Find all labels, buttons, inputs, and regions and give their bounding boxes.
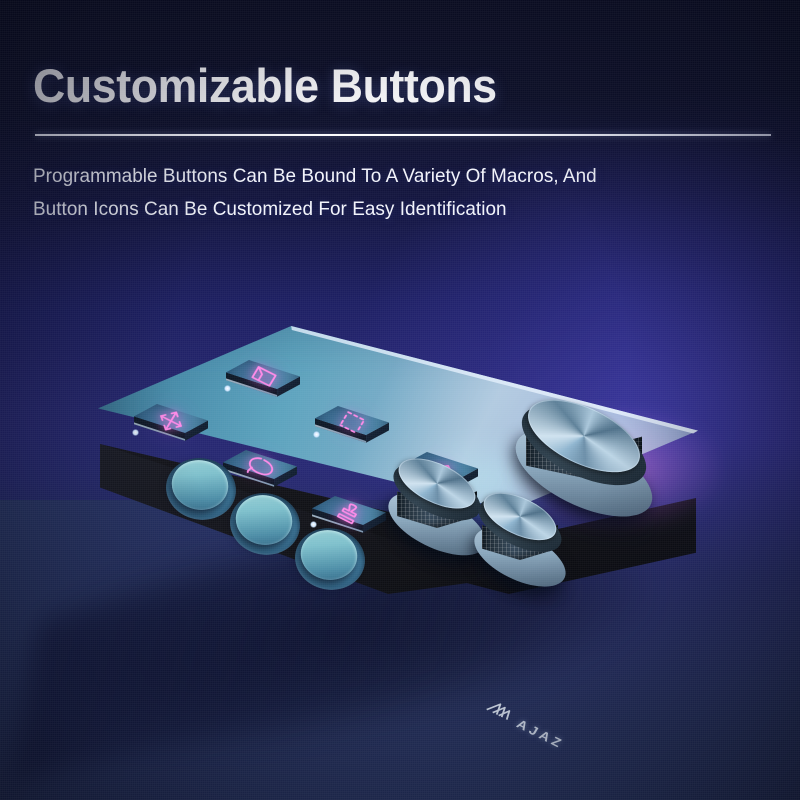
noise-overlay [0, 0, 800, 800]
product-marketing-image: Customizable Buttons Programmable Button… [0, 0, 800, 800]
